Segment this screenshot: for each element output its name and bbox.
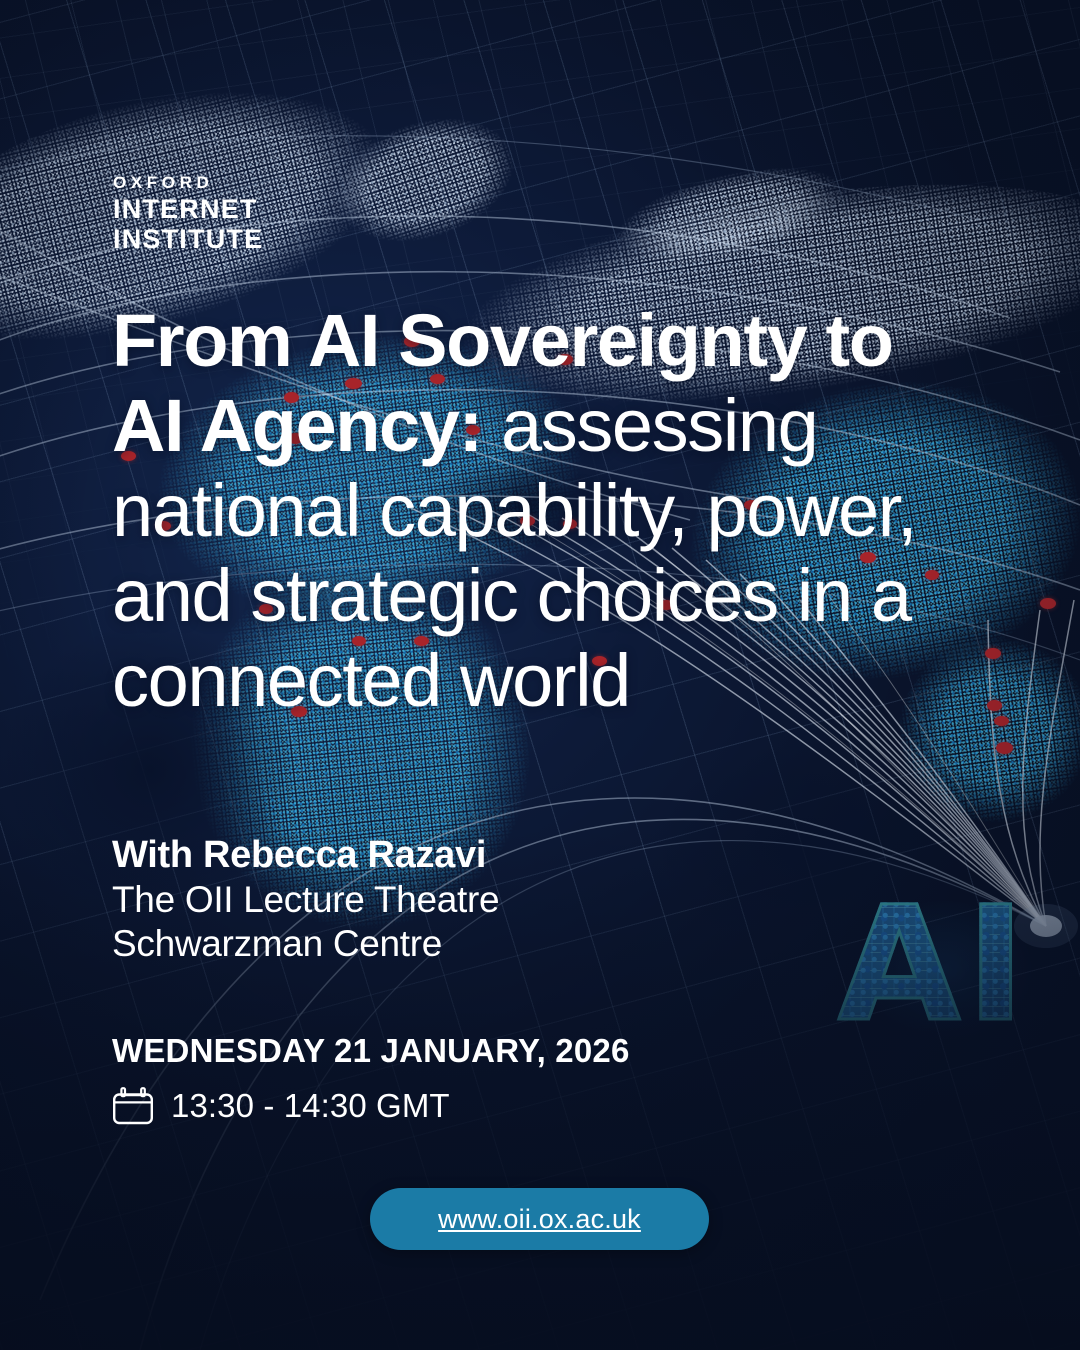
calendar-icon bbox=[112, 1086, 154, 1126]
venue-line-2: Schwarzman Centre bbox=[112, 922, 812, 966]
speaker-and-venue: With Rebecca Razavi The OII Lecture Thea… bbox=[112, 832, 812, 966]
speaker-name: With Rebecca Razavi bbox=[112, 832, 812, 878]
event-time-row: 13:30 - 14:30 GMT bbox=[112, 1086, 630, 1126]
venue-line-1: The OII Lecture Theatre bbox=[112, 878, 812, 922]
event-poster: AI OXFORD INTERNET INSTITUTE From AI Sov… bbox=[0, 0, 1080, 1350]
page-title: From AI Sovereignty to AI Agency: assess… bbox=[112, 298, 957, 723]
poster-content: OXFORD INTERNET INSTITUTE From AI Sovere… bbox=[0, 0, 1080, 1350]
logo-line-oxford: OXFORD bbox=[113, 172, 263, 194]
event-datetime: WEDNESDAY 21 JANUARY, 2026 13:30 - 14:30… bbox=[112, 1030, 630, 1126]
event-time: 13:30 - 14:30 GMT bbox=[171, 1087, 450, 1125]
oii-logo: OXFORD INTERNET INSTITUTE bbox=[113, 172, 263, 254]
event-date: WEDNESDAY 21 JANUARY, 2026 bbox=[112, 1030, 630, 1072]
website-url-button[interactable]: www.oii.ox.ac.uk bbox=[370, 1188, 709, 1250]
logo-line-internet: INTERNET bbox=[113, 194, 263, 224]
logo-line-institute: INSTITUTE bbox=[113, 224, 263, 254]
